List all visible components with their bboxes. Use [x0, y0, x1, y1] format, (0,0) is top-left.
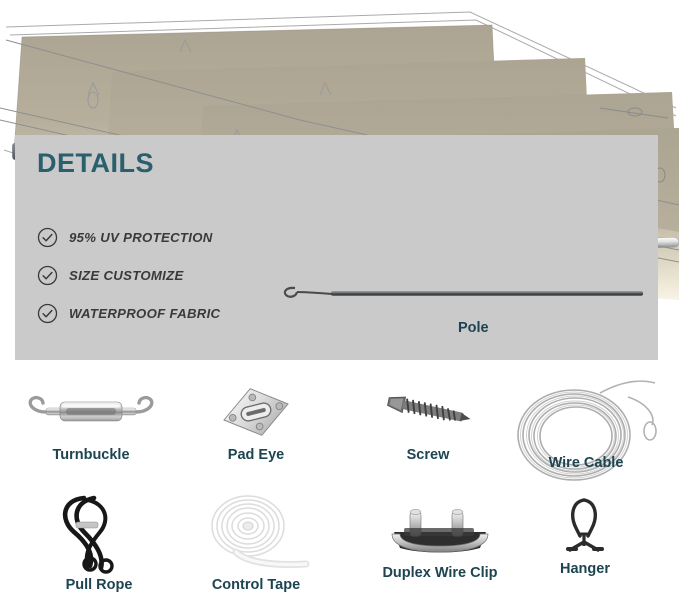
part-label: Turnbuckle: [10, 447, 172, 463]
part-label: Hanger: [520, 561, 650, 577]
feature-label: SIZE CUSTOMIZE: [69, 268, 184, 283]
feature-item-uv-protection: 95% UV PROTECTION: [37, 222, 220, 253]
pull-rope-icon: [18, 493, 180, 573]
pad-eye-icon: [190, 381, 322, 443]
part-label: Screw: [360, 447, 496, 463]
part-screw: Screw: [360, 381, 496, 463]
part-pad-eye: Pad Eye: [190, 381, 322, 463]
pole-rod-icon: [273, 280, 653, 310]
part-label: Control Tape: [182, 577, 330, 593]
part-label: Pad Eye: [190, 447, 322, 463]
feature-label: 95% UV PROTECTION: [69, 230, 213, 245]
feature-item-size-customize: SIZE CUSTOMIZE: [37, 260, 220, 291]
hanger-clip-icon: [520, 495, 650, 557]
feature-list: 95% UV PROTECTION SIZE CUSTOMIZE WATERPR…: [37, 222, 220, 336]
part-label: Pull Rope: [18, 577, 180, 593]
feature-item-waterproof-fabric: WATERPROOF FABRIC: [37, 298, 220, 329]
part-wire-cable: Wire Cable: [500, 377, 672, 505]
turnbuckle-icon: [10, 381, 172, 443]
part-hanger: Hanger: [520, 495, 650, 577]
part-turnbuckle: Turnbuckle: [10, 381, 172, 463]
part-control-tape: Control Tape: [182, 493, 330, 593]
pole-figure: Pole: [273, 280, 653, 350]
details-title: DETAILS: [37, 148, 154, 179]
parts-grid: Turnbuckle: [0, 375, 679, 611]
screw-icon: [360, 381, 496, 443]
control-tape-roll-icon: [182, 493, 330, 573]
check-circle-icon: [37, 265, 58, 286]
part-pull-rope: Pull Rope: [18, 493, 180, 593]
check-circle-icon: [37, 227, 58, 248]
check-circle-icon: [37, 303, 58, 324]
duplex-wire-clip-icon: [355, 501, 525, 561]
part-label: Duplex Wire Clip: [355, 565, 525, 581]
part-label: Wire Cable: [500, 455, 672, 471]
details-panel: DETAILS 95% UV PROTECTION SIZE CUSTOMIZE: [15, 135, 658, 360]
part-duplex-wire-clip: Duplex Wire Clip: [355, 501, 525, 581]
pole-label: Pole: [458, 320, 489, 336]
feature-label: WATERPROOF FABRIC: [69, 306, 220, 321]
